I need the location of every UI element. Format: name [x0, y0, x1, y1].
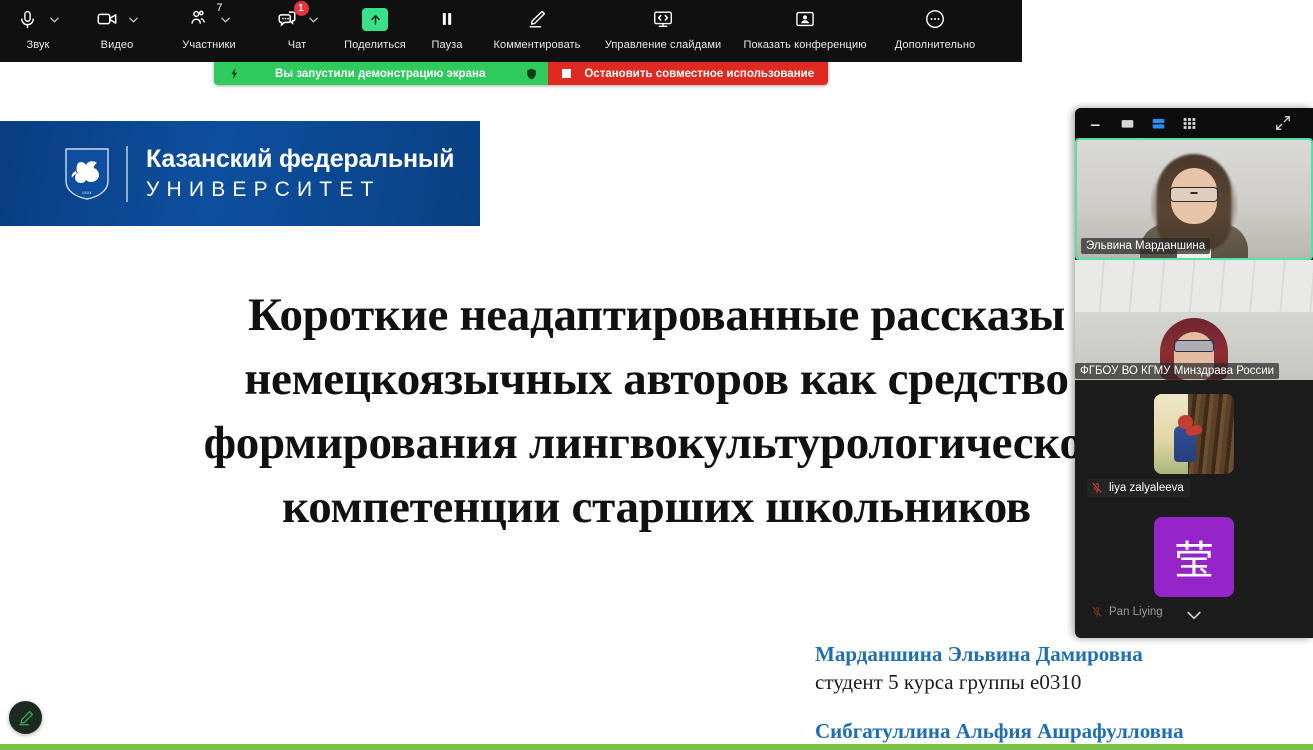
chevron-down-icon[interactable] — [1184, 605, 1204, 630]
share-status-panel: Вы запустили демонстрацию экрана — [214, 62, 548, 85]
toolbar-item-share[interactable]: Поделиться — [334, 0, 416, 62]
participant-name-label: Эльвина Марданшина — [1081, 238, 1210, 254]
toolbar-item-participants[interactable]: 7 Участники — [158, 0, 260, 62]
chevron-down-icon[interactable] — [48, 6, 62, 32]
chevron-down-icon[interactable] — [307, 6, 321, 32]
stacked-view-icon[interactable] — [1147, 112, 1169, 134]
toolbar-item-slide-control[interactable]: Управление слайдами — [596, 0, 730, 62]
shield-icon[interactable] — [525, 67, 538, 81]
single-view-icon[interactable] — [1116, 112, 1138, 134]
kfu-logo-text: Казанский федеральный УНИВЕРСИТЕТ — [146, 147, 454, 200]
participants-video-panel: Эльвина Марданшина ФГБОУ ВО КГМУ Минздра… — [1075, 108, 1313, 638]
zoom-screenshare-window: 1804 Казанский федеральный УНИВЕРСИТЕТ К… — [0, 0, 1313, 750]
screen-share-border — [0, 744, 1313, 750]
grid-view-icon[interactable] — [1178, 112, 1200, 134]
annotate-floating-button[interactable] — [9, 701, 42, 734]
video-tile[interactable]: Эльвина Марданшина — [1075, 138, 1313, 260]
toolbar-label: Дополнительно — [895, 39, 975, 51]
toolbar-item-more[interactable]: Дополнительно — [880, 0, 990, 62]
toolbar-label: Управление слайдами — [605, 39, 722, 51]
toolbar-item-annotate[interactable]: Комментировать — [478, 0, 596, 62]
participants-icon: 7 — [186, 6, 212, 32]
toolbar-label: Поделиться — [344, 39, 406, 51]
annotate-pencil-icon — [524, 6, 550, 32]
logo-divider — [126, 146, 128, 202]
video-camera-icon — [94, 6, 120, 32]
minimize-icon[interactable] — [1085, 112, 1107, 134]
toolbar-item-audio[interactable]: Звук — [0, 0, 76, 62]
chat-unread-badge: 1 — [294, 1, 309, 16]
video-panel-header — [1075, 108, 1313, 138]
pencil-icon — [17, 709, 35, 727]
show-meeting-icon — [792, 6, 818, 32]
kfu-logo-banner: 1804 Казанский федеральный УНИВЕРСИТЕТ — [0, 121, 480, 226]
kfu-line-1: Казанский федеральный — [146, 147, 454, 172]
share-screen-icon — [362, 6, 388, 32]
lightning-icon — [228, 67, 241, 80]
stop-share-button[interactable]: Остановить совместное использование — [548, 62, 828, 85]
toolbar-label: Комментировать — [493, 39, 580, 51]
share-status-text: Вы запустили демонстрацию экрана — [275, 68, 485, 80]
authors-block: Марданшина Эльвина Дамировна студент 5 к… — [815, 641, 1285, 750]
more-ellipsis-icon — [922, 6, 948, 32]
toolbar-label: Чат — [288, 39, 307, 51]
author-entry-student: Марданшина Эльвина Дамировна студент 5 к… — [815, 641, 1285, 696]
toolbar-item-show-meeting[interactable]: Показать конференцию — [730, 0, 880, 62]
chat-bubble-icon: 1 — [274, 6, 300, 32]
kfu-shield-icon: 1804 — [64, 147, 110, 201]
webcam-feed — [1075, 260, 1313, 380]
toolbar-item-pause[interactable]: Пауза — [416, 0, 478, 62]
video-tile[interactable]: liya zalyaleeva — [1075, 380, 1313, 503]
pause-icon — [434, 6, 460, 32]
zoom-toolbar: Звук Видео — [0, 0, 1022, 62]
video-tile[interactable]: 莹 — [1075, 503, 1313, 603]
screen-share-status-bar: Вы запустили демонстрацию экрана Останов… — [214, 62, 828, 85]
author-role: студент 5 курса группы e0310 — [815, 668, 1285, 696]
toolbar-label: Показать конференцию — [743, 39, 866, 51]
avatar — [1154, 394, 1234, 474]
toolbar-label: Звук — [27, 39, 50, 51]
video-panel-footer: Pan Liying — [1075, 603, 1313, 629]
toolbar-item-chat[interactable]: 1 Чат — [260, 0, 334, 62]
video-tile[interactable]: ФГБОУ ВО КГМУ Минздрава России — [1075, 260, 1313, 380]
slide-control-icon — [650, 6, 676, 32]
stop-share-label: Остановить совместное использование — [584, 68, 814, 80]
participant-name-label: ФГБОУ ВО КГМУ Минздрава России — [1075, 363, 1279, 379]
participant-name-label: Pan Liying — [1109, 606, 1163, 618]
toolbar-label: Видео — [101, 39, 134, 51]
toolbar-label: Участники — [182, 39, 235, 51]
expand-icon[interactable] — [1272, 112, 1294, 134]
author-name: Сибгатуллина Альфия Ашрафулловна — [815, 718, 1285, 745]
author-name: Марданшина Эльвина Дамировна — [815, 641, 1285, 668]
microphone-muted-icon — [1090, 605, 1104, 619]
avatar: 莹 — [1154, 517, 1234, 597]
toolbar-item-video[interactable]: Видео — [76, 0, 158, 62]
svg-text:1804: 1804 — [82, 191, 92, 195]
participants-count: 7 — [216, 2, 222, 14]
participant-name-label: liya zalyaleeva — [1109, 482, 1184, 494]
avatar-initial: 莹 — [1174, 528, 1214, 586]
kfu-line-2: УНИВЕРСИТЕТ — [146, 179, 454, 200]
microphone-icon — [15, 6, 41, 32]
toolbar-label: Пауза — [431, 39, 462, 51]
chevron-down-icon[interactable] — [127, 6, 141, 32]
stop-square-icon — [562, 69, 571, 78]
microphone-muted-icon — [1090, 481, 1104, 495]
